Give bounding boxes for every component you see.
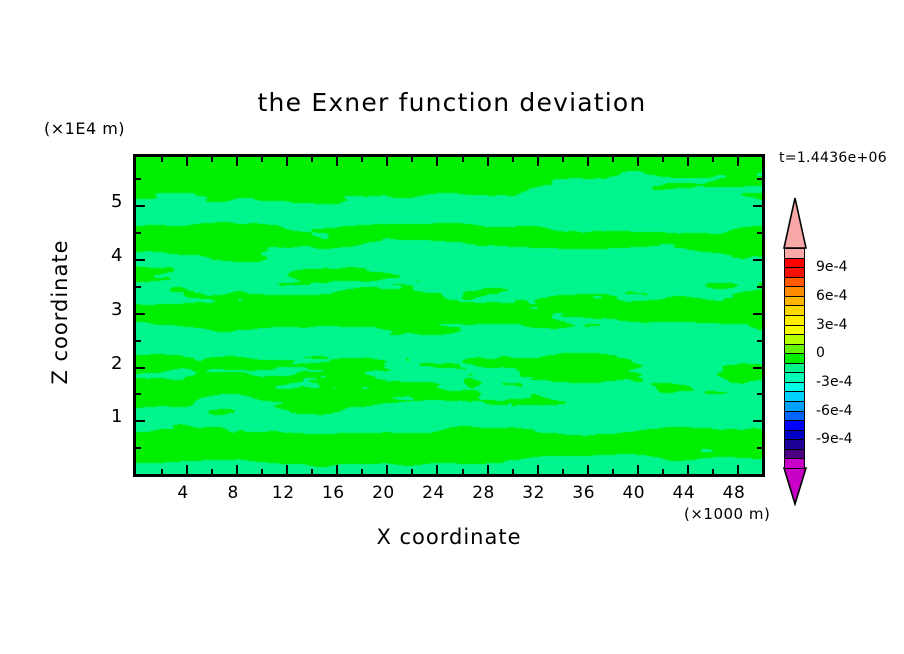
x-tick: [637, 465, 639, 474]
y-tick-right: [757, 447, 762, 449]
x-tick: [462, 469, 464, 474]
x-tick-top: [436, 157, 438, 166]
x-tick: [311, 469, 313, 474]
x-tick: [436, 465, 438, 474]
x-tick: [487, 465, 489, 474]
colorbar-tick-label: 6e-4: [816, 288, 847, 304]
x-tick-top: [512, 157, 514, 162]
x-tick-top: [236, 157, 238, 166]
x-tick-label: 20: [363, 483, 403, 503]
x-tick-top: [637, 157, 639, 166]
y-tick: [136, 340, 141, 342]
y-tick: [136, 178, 141, 180]
x-axis-title: X coordinate: [133, 525, 765, 549]
y-tick: [136, 393, 141, 395]
x-tick: [687, 465, 689, 474]
colorbar: 9e-46e-43e-40-3e-4-6e-4-9e-4: [780, 196, 810, 506]
colorbar-tick-label: 3e-4: [816, 317, 847, 333]
x-tick-label: 4: [163, 483, 203, 503]
y-tick-right: [757, 340, 762, 342]
y-tick-label: 1: [95, 406, 123, 427]
y-tick: [136, 313, 145, 315]
x-tick-top: [537, 157, 539, 166]
x-tick: [712, 469, 714, 474]
x-tick-label: 40: [614, 483, 654, 503]
y-tick: [136, 259, 145, 261]
x-tick-top: [587, 157, 589, 166]
x-tick-top: [737, 157, 739, 166]
colorbar-swatch: [784, 458, 805, 469]
y-tick: [136, 420, 145, 422]
x-tick: [286, 465, 288, 474]
colorbar-tick-label: 0: [816, 345, 825, 361]
x-tick: [587, 465, 589, 474]
x-tick: [261, 469, 263, 474]
x-tick: [512, 469, 514, 474]
x-tick-top: [161, 157, 163, 162]
y-axis-title: Z coordinate: [48, 212, 72, 412]
x-tick-top: [261, 157, 263, 162]
x-tick: [236, 465, 238, 474]
x-tick-top: [386, 157, 388, 166]
page-title: the Exner function deviation: [0, 88, 904, 117]
x-tick-top: [311, 157, 313, 162]
y-tick-right: [757, 178, 762, 180]
y-tick: [136, 286, 141, 288]
x-tick-label: 8: [213, 483, 253, 503]
x-tick-top: [612, 157, 614, 162]
x-tick-label: 36: [564, 483, 604, 503]
x-tick-label: 48: [714, 483, 754, 503]
x-tick-top: [336, 157, 338, 166]
x-tick: [386, 465, 388, 474]
x-tick-top: [462, 157, 464, 162]
y-tick-right: [757, 393, 762, 395]
y-tick-label: 2: [95, 353, 123, 374]
x-tick-top: [186, 157, 188, 166]
x-tick: [662, 469, 664, 474]
y-tick-right: [753, 205, 762, 207]
x-tick-top: [712, 157, 714, 162]
y-tick-right: [753, 367, 762, 369]
contour-figure: the Exner function deviation (×1E4 m) t=…: [0, 0, 904, 654]
x-tick-top: [361, 157, 363, 162]
x-tick: [161, 469, 163, 474]
y-tick-label: 4: [95, 245, 123, 266]
x-tick-top: [687, 157, 689, 166]
y-tick-right: [753, 420, 762, 422]
x-tick: [411, 469, 413, 474]
x-tick: [361, 469, 363, 474]
colorbar-tick-label: 9e-4: [816, 259, 847, 275]
y-tick-right: [753, 313, 762, 315]
x-tick-label: 16: [313, 483, 353, 503]
x-tick: [186, 465, 188, 474]
y-tick-label: 5: [95, 191, 123, 212]
x-tick: [562, 469, 564, 474]
plot-area: [133, 154, 765, 477]
x-tick-top: [487, 157, 489, 166]
time-annotation: t=1.4436e+06: [779, 150, 887, 166]
x-tick-label: 24: [413, 483, 453, 503]
y-tick: [136, 232, 141, 234]
y-tick: [136, 367, 145, 369]
x-axis-unit-label: (×1000 m): [684, 505, 770, 523]
x-tick-top: [562, 157, 564, 162]
y-tick-right: [757, 232, 762, 234]
x-tick-label: 32: [514, 483, 554, 503]
x-tick-label: 12: [263, 483, 303, 503]
y-tick-right: [753, 259, 762, 261]
y-tick: [136, 447, 141, 449]
y-axis-unit-label: (×1E4 m): [44, 119, 125, 138]
x-tick-top: [411, 157, 413, 162]
x-tick: [737, 465, 739, 474]
contour-field: [136, 157, 762, 474]
y-tick: [136, 205, 145, 207]
x-tick-top: [286, 157, 288, 166]
x-tick-label: 44: [664, 483, 704, 503]
x-tick: [211, 469, 213, 474]
y-tick-label: 3: [95, 299, 123, 320]
colorbar-tick-label: -9e-4: [816, 431, 853, 447]
colorbar-top-arrow-icon: [784, 198, 806, 248]
x-tick: [336, 465, 338, 474]
x-tick: [537, 465, 539, 474]
colorbar-tick-label: -6e-4: [816, 403, 853, 419]
x-tick: [612, 469, 614, 474]
y-tick-right: [757, 286, 762, 288]
x-tick-top: [211, 157, 213, 162]
x-tick-top: [662, 157, 664, 162]
x-tick-label: 28: [464, 483, 504, 503]
colorbar-bottom-arrow-icon: [784, 468, 806, 504]
colorbar-tick-label: -3e-4: [816, 374, 853, 390]
